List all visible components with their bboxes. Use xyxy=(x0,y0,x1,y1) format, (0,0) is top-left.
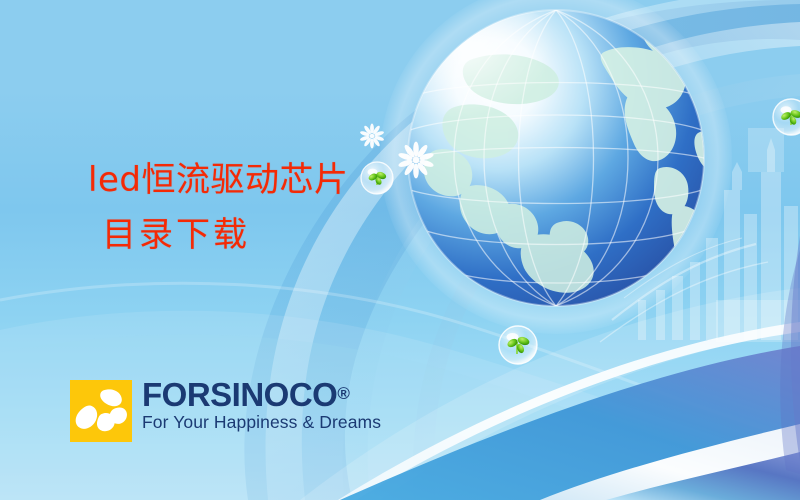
bubble-sprout-right xyxy=(773,99,800,135)
company-logo: FORSINOCO® For Your Happiness & Dreams xyxy=(70,380,381,442)
sparkle-small xyxy=(360,124,385,149)
logo-text-block: FORSINOCO® For Your Happiness & Dreams xyxy=(142,378,381,431)
logo-wordmark-text: FORSINOCO xyxy=(142,376,337,413)
registered-trademark-symbol: ® xyxy=(337,384,350,403)
bubble-sprout-lower xyxy=(499,326,537,364)
logo-tagline: For Your Happiness & Dreams xyxy=(142,413,381,431)
promo-banner: led恒流驱动芯片 目录下载 FORSINOCO® xyxy=(0,0,800,500)
headline-line-2: 目录下载 xyxy=(102,218,428,253)
headline-block: led恒流驱动芯片 目录下载 xyxy=(88,163,428,252)
four-petal-flower-glyph xyxy=(70,380,132,442)
four-petal-flower-icon xyxy=(70,380,132,442)
headline-line-1: led恒流驱动芯片 xyxy=(88,163,428,198)
logo-wordmark: FORSINOCO® xyxy=(142,378,381,411)
